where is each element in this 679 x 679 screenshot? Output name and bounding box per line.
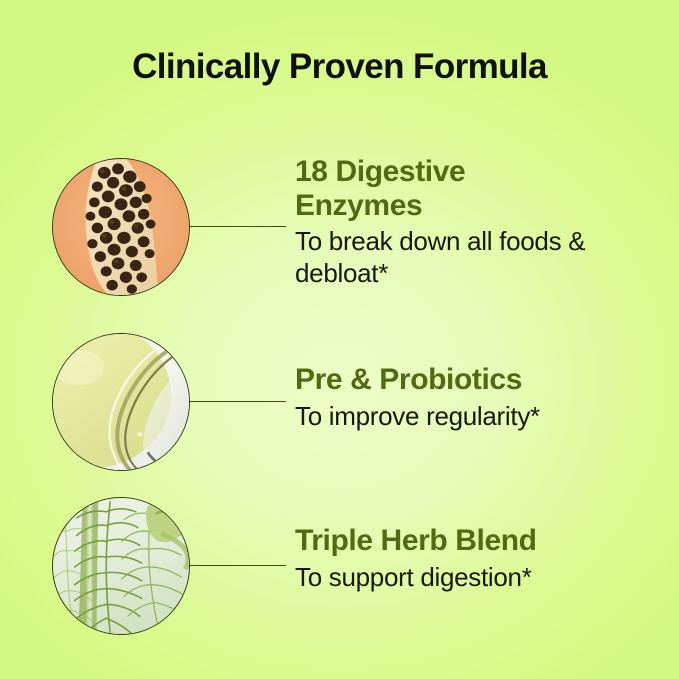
- feature-text-1: 18 Digestive Enzymes To break down all f…: [295, 155, 665, 290]
- feature-row-pre-and-probiotics: Pre & Probiotics To improve regularity*: [0, 322, 679, 482]
- feature-subtext-2: To improve regularity*: [295, 401, 665, 433]
- feature-heading-3: Triple Herb Blend: [295, 524, 665, 558]
- connector-line-2: [190, 401, 286, 402]
- connector-line-1: [190, 226, 286, 227]
- fennel-herb-photo: [52, 497, 190, 635]
- page-title: Clinically Proven Formula: [0, 48, 679, 87]
- connector-line-3: [190, 565, 286, 566]
- petri-dish-culture-photo: [52, 333, 190, 471]
- feature-text-3: Triple Herb Blend To support digestion*: [295, 524, 665, 593]
- feature-row-triple-herb-blend: Triple Herb Blend To support digestion*: [0, 486, 679, 646]
- feature-image-1-wrap: [52, 158, 190, 296]
- feature-subtext-3: To support digestion*: [295, 562, 665, 594]
- feature-heading-2: Pre & Probiotics: [295, 363, 665, 397]
- feature-image-2-wrap: [52, 333, 190, 471]
- feature-subtext-1: To break down all foods & debloat*: [295, 226, 665, 289]
- feature-image-3-wrap: [52, 497, 190, 635]
- feature-text-2: Pre & Probiotics To improve regularity*: [295, 363, 665, 432]
- feature-heading-1: 18 Digestive Enzymes: [295, 155, 535, 222]
- feature-row-digestive-enzymes: 18 Digestive Enzymes To break down all f…: [0, 147, 679, 307]
- clinically-proven-formula-poster: Clinically Proven Formula: [0, 0, 679, 679]
- papaya-cross-section-photo: [52, 158, 190, 296]
